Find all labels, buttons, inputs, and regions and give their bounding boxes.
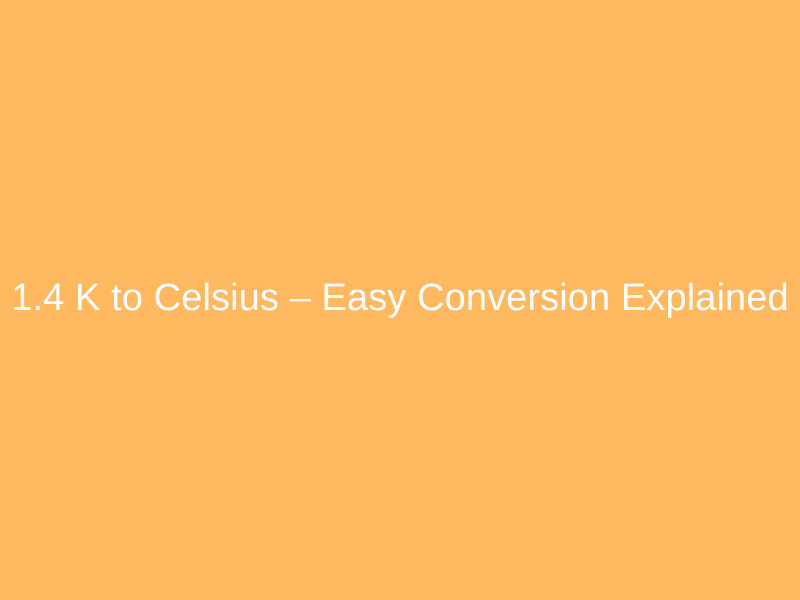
featured-image-card: 1.4 K to Celsius – Easy Conversion Expla… (0, 0, 800, 600)
page-title: 1.4 K to Celsius – Easy Conversion Expla… (0, 276, 800, 322)
